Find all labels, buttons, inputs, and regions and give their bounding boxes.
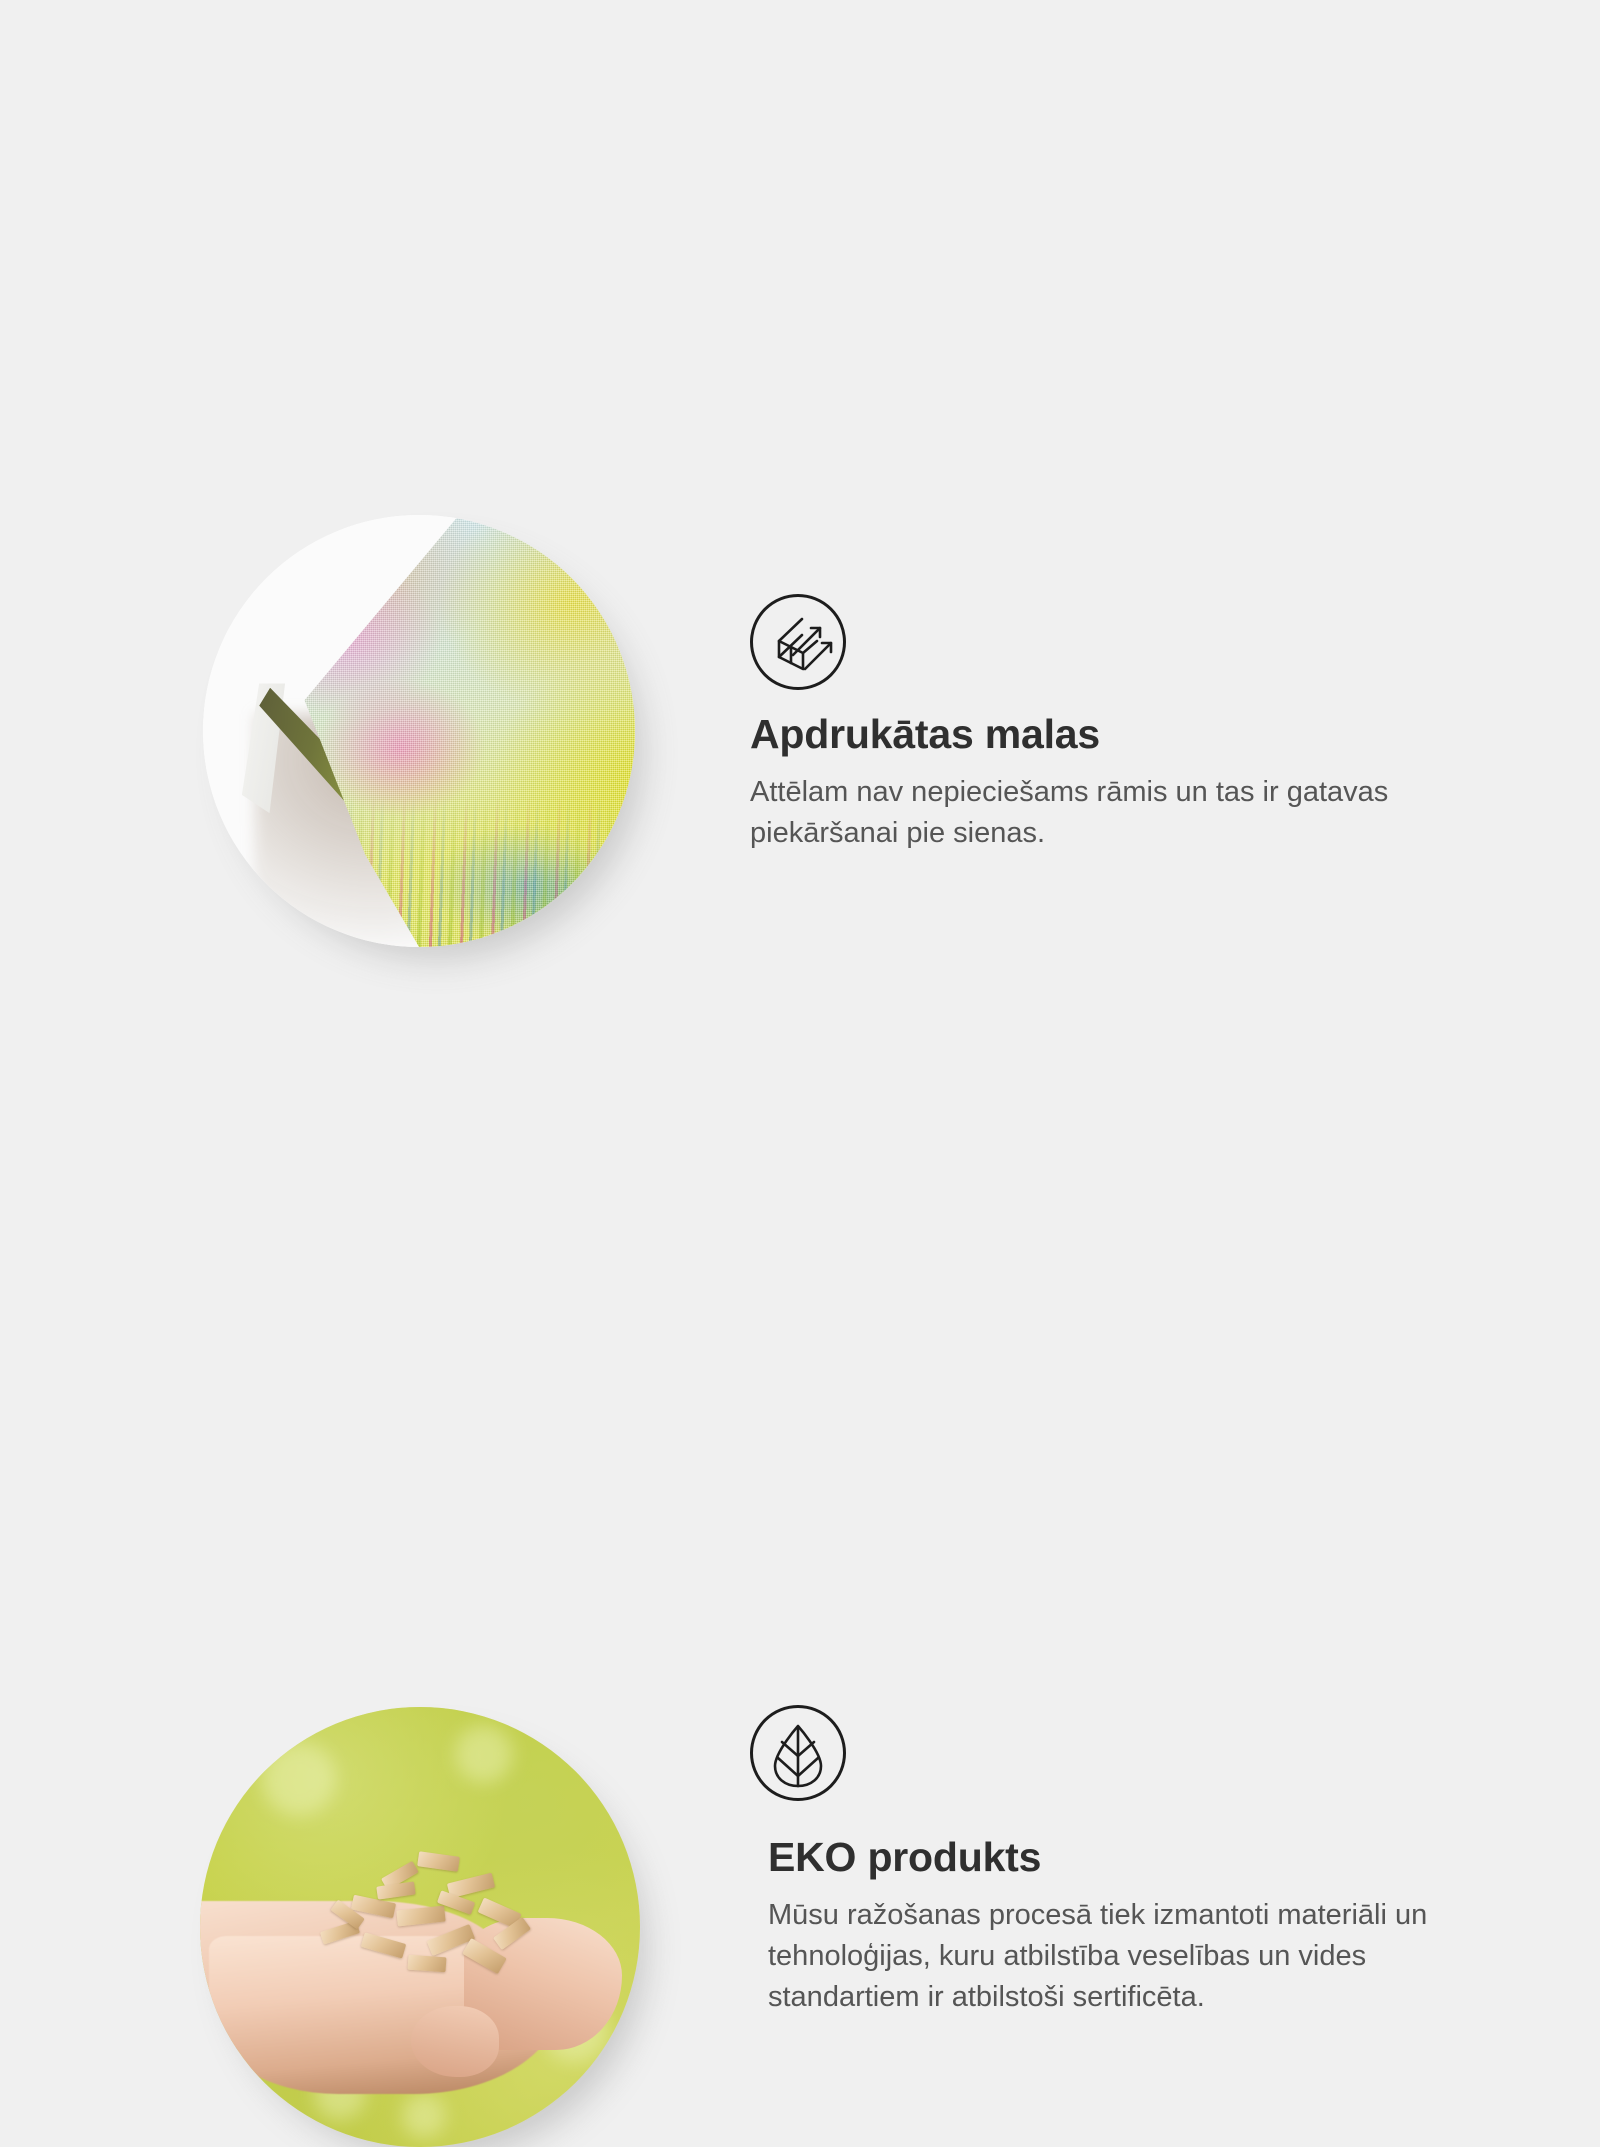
feature-description: Mūsu ražošanas procesā tiek izmantoti ma… bbox=[768, 1895, 1478, 2019]
wood-chip bbox=[361, 1932, 407, 1958]
feature-text-printed-edges: Apdrukātas malas Attēlam nav nepieciešam… bbox=[750, 712, 1470, 854]
wood-chip bbox=[376, 1881, 416, 1900]
printed-edges-icon bbox=[750, 594, 846, 690]
wood-chip bbox=[407, 1954, 446, 1972]
feature-block-printed-edges: Apdrukātas malas Attēlam nav nepieciešam… bbox=[0, 250, 1600, 750]
leaf-icon bbox=[750, 1705, 846, 1801]
eco-photo-backdrop bbox=[200, 1707, 640, 2147]
wood-chip bbox=[397, 1905, 447, 1926]
wood-chips-pile bbox=[306, 1839, 561, 1989]
bokeh-highlight bbox=[455, 1725, 513, 1783]
hands-holding-wood-chips-photo bbox=[200, 1707, 640, 2147]
bokeh-highlight bbox=[262, 1742, 336, 1816]
feature-title: Apdrukātas malas bbox=[750, 712, 1470, 758]
feature-highlights-page: Apdrukātas malas Attēlam nav nepieciešam… bbox=[0, 0, 1600, 1600]
thumb bbox=[411, 2006, 499, 2076]
feature-description: Attēlam nav nepieciešams rāmis un tas ir… bbox=[750, 772, 1465, 854]
feature-text-eco-product: EKO produkts Mūsu ražošanas procesā tiek… bbox=[768, 1835, 1488, 2018]
feature-title: EKO produkts bbox=[768, 1835, 1488, 1881]
bokeh-highlight bbox=[402, 2094, 446, 2138]
feature-block-eco-product: EKO produkts Mūsu ražošanas procesā tiek… bbox=[0, 845, 1600, 1325]
wood-chip bbox=[417, 1851, 460, 1871]
